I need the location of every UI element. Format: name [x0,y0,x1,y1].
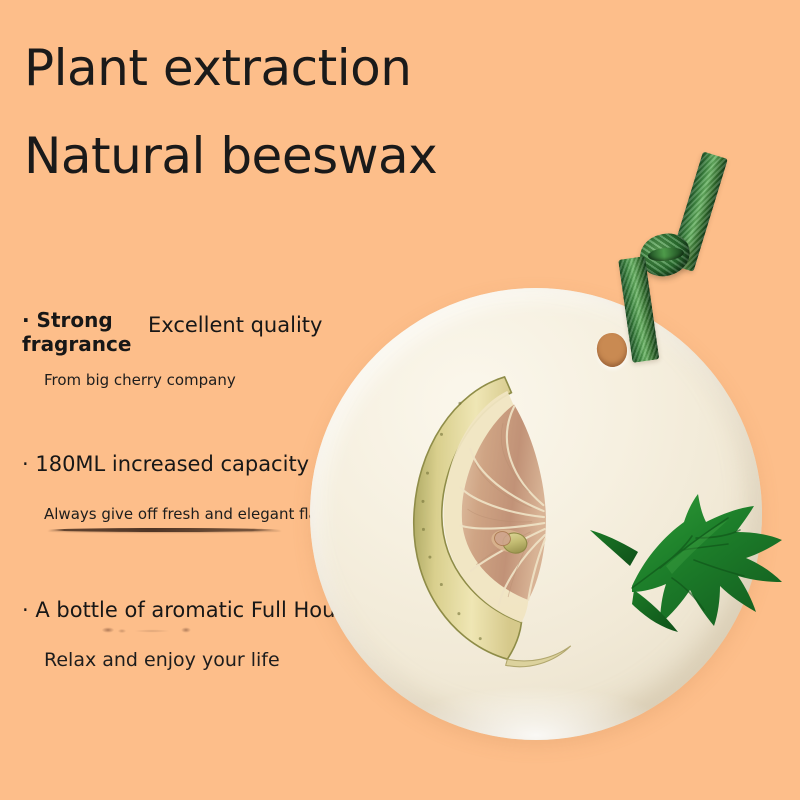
green-leaf [588,474,800,654]
product-image [0,0,800,800]
dried-citrus-slice [397,370,580,668]
product-banner: Plant extraction Natural beeswax · Stron… [0,0,800,800]
